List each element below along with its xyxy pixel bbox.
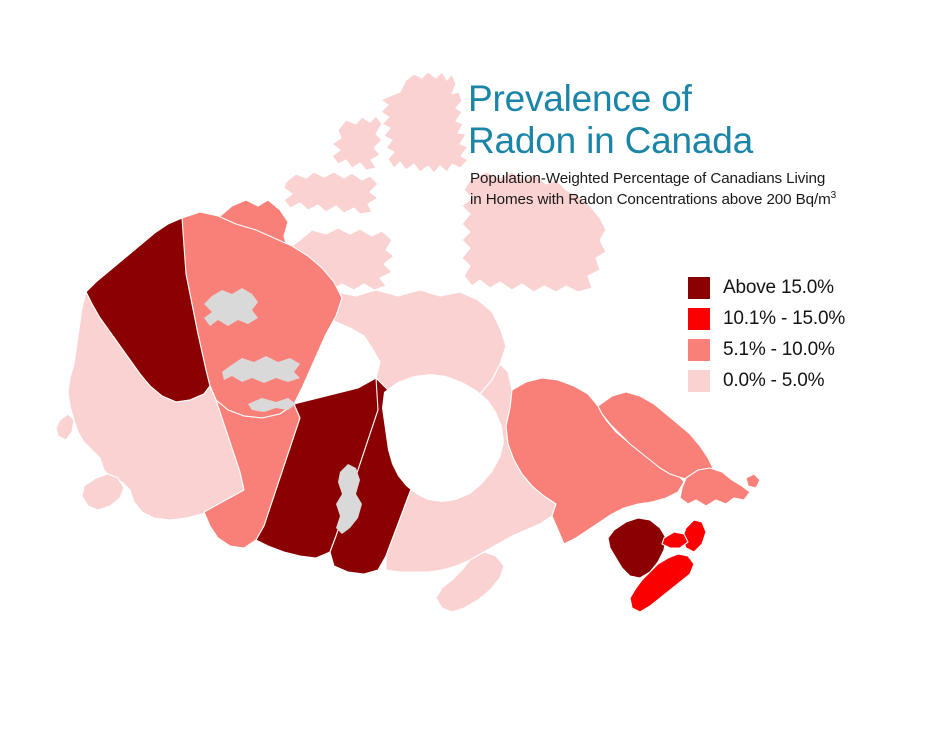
title-block: Prevalence of Radon in Canada Population… xyxy=(468,78,908,210)
legend-swatch-icon xyxy=(688,308,710,330)
subtitle-superscript: 3 xyxy=(831,190,836,201)
page-title: Prevalence of Radon in Canada xyxy=(468,78,908,162)
legend-swatch-icon xyxy=(688,370,710,392)
region-nunavut-axel-heiberg[interactable] xyxy=(332,116,382,170)
region-nunavut-melville[interactable] xyxy=(284,172,378,214)
legend-item-10-to-15[interactable]: 10.1% - 15.0% xyxy=(688,303,908,334)
legend-item-above-15[interactable]: Above 15.0% xyxy=(688,272,908,303)
legend-item-5-to-10[interactable]: 5.1% - 10.0% xyxy=(688,334,908,365)
legend-item-label: 5.1% - 10.0% xyxy=(723,340,835,359)
page-subtitle: Population-Weighted Percentage of Canadi… xyxy=(470,168,908,210)
region-bc-vancouver-island[interactable] xyxy=(82,474,124,510)
region-bc-haida-gwaii[interactable] xyxy=(56,414,74,440)
region-prince-edward-island[interactable] xyxy=(662,532,688,548)
map-legend: Above 15.0% 10.1% - 15.0% 5.1% - 10.0% 0… xyxy=(688,272,908,396)
region-nl-outer-island[interactable] xyxy=(746,474,760,488)
region-nunavut-ellesmere[interactable] xyxy=(381,72,468,173)
radon-map-page: Prevalence of Radon in Canada Population… xyxy=(0,0,950,734)
subtitle-text: Population-Weighted Percentage of Canadi… xyxy=(470,170,831,208)
legend-item-label: 0.0% - 5.0% xyxy=(723,371,824,390)
legend-item-0-to-5[interactable]: 0.0% - 5.0% xyxy=(688,365,908,396)
legend-swatch-icon xyxy=(688,277,710,299)
legend-item-label: 10.1% - 15.0% xyxy=(723,309,845,328)
legend-item-label: Above 15.0% xyxy=(723,278,834,297)
legend-swatch-icon xyxy=(688,339,710,361)
